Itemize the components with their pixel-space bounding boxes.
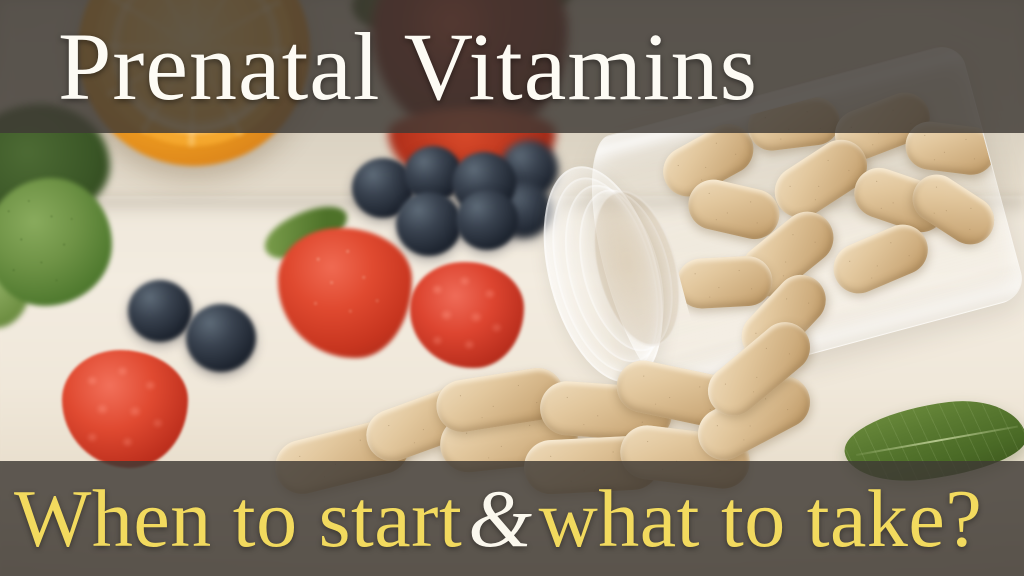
subtitle-ampersand: &	[462, 473, 538, 564]
title-band: Prenatal Vitamins	[0, 0, 1024, 133]
poster-canvas: Prenatal Vitamins When to start&what to …	[0, 0, 1024, 576]
page-title: Prenatal Vitamins	[0, 19, 758, 115]
subtitle-first-part: When to start	[14, 473, 462, 564]
subtitle-second-part: what to take?	[539, 473, 983, 564]
page-subtitle: When to start&what to take?	[0, 478, 982, 560]
subtitle-band: When to start&what to take?	[0, 461, 1024, 576]
